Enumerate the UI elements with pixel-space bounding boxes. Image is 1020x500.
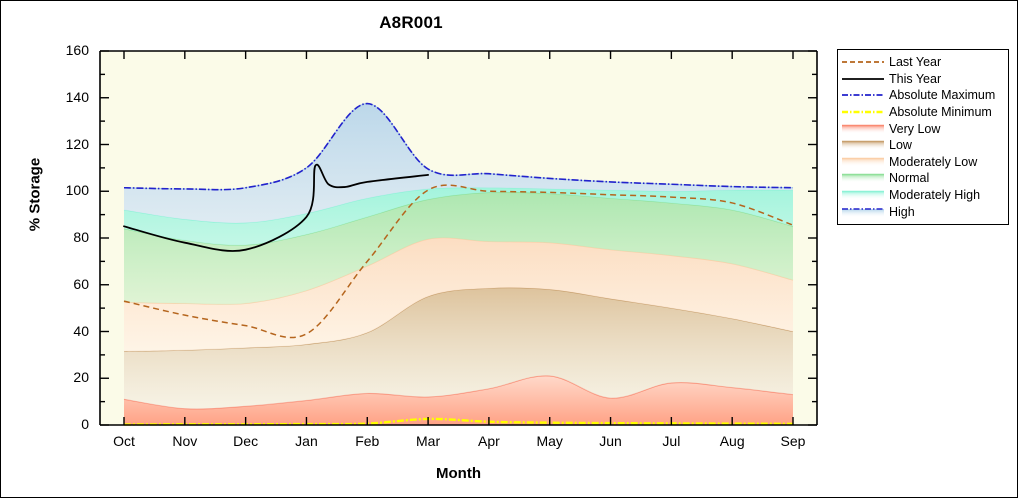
legend-swatch-icon <box>842 55 884 69</box>
legend-item-moderately-high[interactable]: Moderately High <box>842 187 1005 204</box>
y-tick-label: 100 <box>45 182 89 198</box>
x-tick-label-apr: Apr <box>459 433 519 449</box>
x-tick-label-jul: Jul <box>641 433 701 449</box>
y-tick-label: 20 <box>45 369 89 385</box>
x-tick-label-feb: Feb <box>337 433 397 449</box>
legend-label: Last Year <box>889 55 941 69</box>
y-tick-label: 0 <box>45 416 89 432</box>
legend-item-moderately-low[interactable]: Moderately Low <box>842 154 1005 171</box>
x-tick-label-sep: Sep <box>763 433 823 449</box>
y-tick-label: 60 <box>45 276 89 292</box>
y-tick-label: 80 <box>45 229 89 245</box>
legend-swatch-icon <box>842 88 884 102</box>
legend-label: This Year <box>889 72 941 86</box>
x-tick-label-nov: Nov <box>155 433 215 449</box>
legend-swatch-icon <box>842 171 884 185</box>
chart-page: A8R001 % Storage Month 02040608010012014… <box>0 0 1018 498</box>
legend-item-absolute-minimum[interactable]: Absolute Minimum <box>842 104 1005 121</box>
x-tick-label-dec: Dec <box>216 433 276 449</box>
legend-item-last-year[interactable]: Last Year <box>842 54 1005 71</box>
legend-item-normal[interactable]: Normal <box>842 170 1005 187</box>
legend-swatch-icon <box>842 122 884 136</box>
legend-label: Absolute Minimum <box>889 105 992 119</box>
x-tick-label-may: May <box>520 433 580 449</box>
legend: Last YearThis YearAbsolute MaximumAbsolu… <box>837 49 1009 225</box>
legend-item-very-low[interactable]: Very Low <box>842 120 1005 137</box>
legend-swatch-icon <box>842 205 884 219</box>
legend-label: High <box>889 205 915 219</box>
legend-label: Low <box>889 138 912 152</box>
legend-swatch-icon <box>842 188 884 202</box>
legend-label: Moderately Low <box>889 155 977 169</box>
legend-label: Very Low <box>889 122 940 136</box>
y-tick-label: 140 <box>45 89 89 105</box>
x-tick-label-jun: Jun <box>581 433 641 449</box>
y-tick-label: 160 <box>45 42 89 58</box>
y-tick-label: 120 <box>45 136 89 152</box>
legend-label: Moderately High <box>889 188 980 202</box>
x-tick-label-jan: Jan <box>276 433 336 449</box>
legend-item-absolute-maximum[interactable]: Absolute Maximum <box>842 87 1005 104</box>
legend-item-high[interactable]: High <box>842 203 1005 220</box>
y-tick-label: 40 <box>45 323 89 339</box>
legend-swatch-icon <box>842 155 884 169</box>
legend-item-this-year[interactable]: This Year <box>842 71 1005 88</box>
legend-swatch-icon <box>842 105 884 119</box>
legend-swatch-icon <box>842 138 884 152</box>
x-tick-label-mar: Mar <box>398 433 458 449</box>
legend-item-low[interactable]: Low <box>842 137 1005 154</box>
legend-swatch-icon <box>842 72 884 86</box>
x-tick-label-aug: Aug <box>702 433 762 449</box>
legend-label: Absolute Maximum <box>889 88 995 102</box>
x-tick-label-oct: Oct <box>94 433 154 449</box>
legend-label: Normal <box>889 171 929 185</box>
